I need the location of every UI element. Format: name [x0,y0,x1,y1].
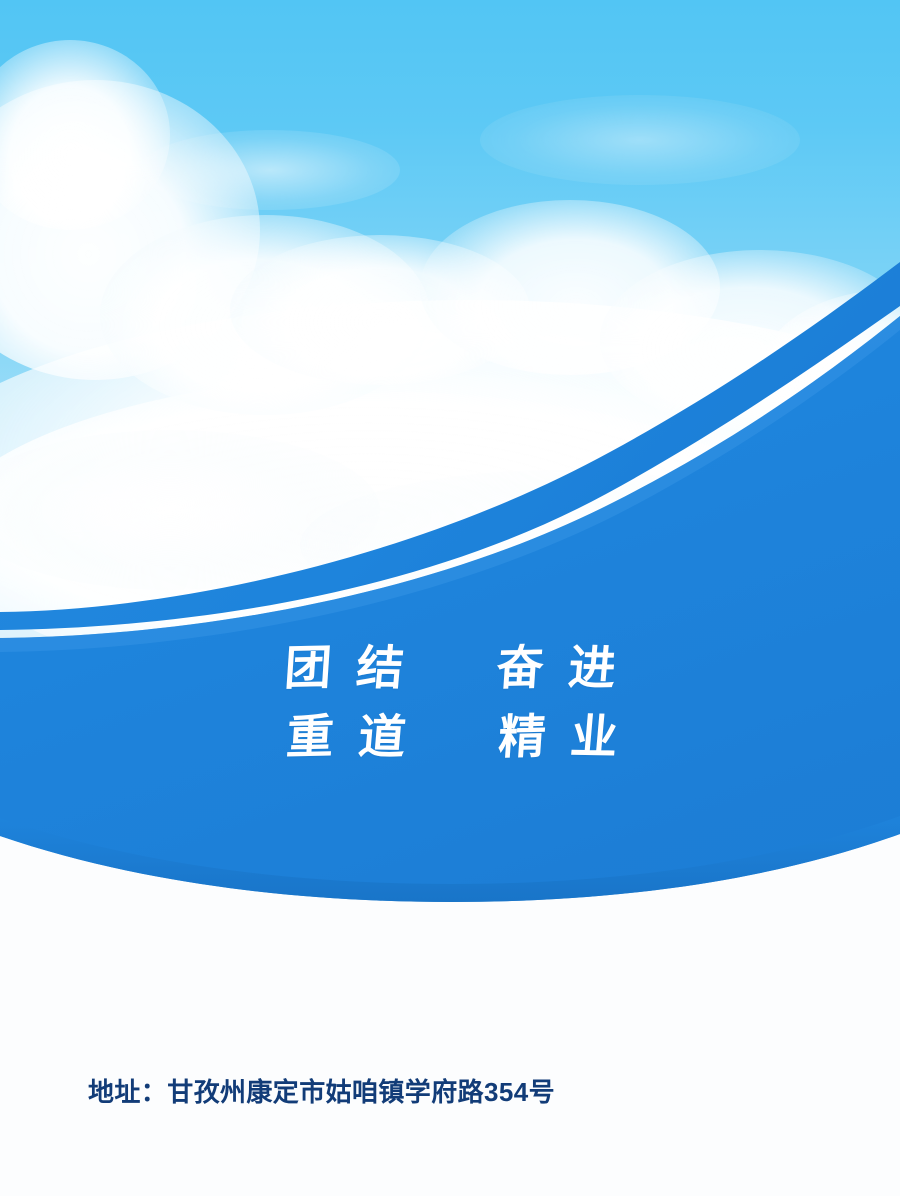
brochure-back-cover-page: 团 结 奋 进 重 道 精 业 地址：甘孜州康定市姑咱镇学府路354号 [0,0,900,1196]
blue-swoosh-wave [0,0,900,1196]
address-line: 地址：甘孜州康定市姑咱镇学府路354号 [88,1076,828,1110]
footer: 地址：甘孜州康定市姑咱镇学府路354号 [88,1076,828,1110]
